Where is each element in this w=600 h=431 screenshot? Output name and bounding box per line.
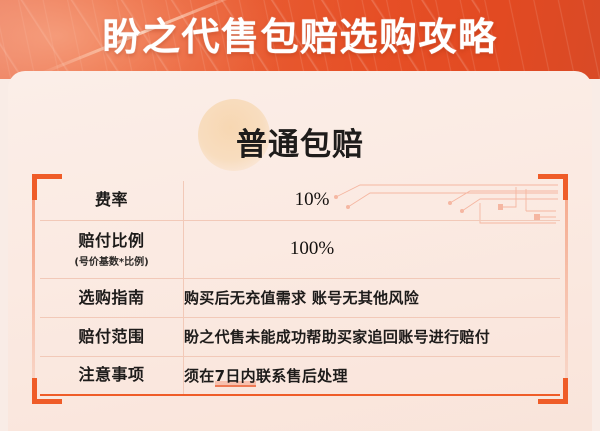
table-row-label-cell: 费率 bbox=[40, 181, 184, 220]
row-value: 100% bbox=[184, 238, 560, 260]
card-title: 普通包赔 bbox=[8, 119, 592, 164]
table-row-value-cell: 盼之代售未能成功帮助买家追回账号进行赔付 bbox=[184, 317, 561, 356]
row-label: 选购指南 bbox=[40, 288, 183, 308]
table-row: 注意事项 须在7日内联系售后处理 bbox=[40, 356, 560, 395]
table-row: 费率 10% bbox=[40, 181, 560, 220]
banner-header: 盼之代售包赔选购攻略 bbox=[0, 0, 600, 79]
row-value: 盼之代售未能成功帮助买家追回账号进行赔付 bbox=[184, 326, 560, 347]
row-label: 赔付范围 bbox=[40, 327, 183, 347]
content-card: 普通包赔 bbox=[8, 71, 592, 431]
table-row-value-cell: 购买后无充值需求 账号无其他风险 bbox=[184, 278, 561, 317]
spec-table: 费率 10% 赔付比例 (号价基数*比例) 100% bbox=[40, 181, 560, 396]
table-row-label-cell: 赔付比例 (号价基数*比例) bbox=[40, 220, 184, 278]
table-row-value-cell: 须在7日内联系售后处理 bbox=[184, 356, 561, 395]
promo-graphic-page: 盼之代售包赔选购攻略 普通包赔 bbox=[0, 0, 600, 431]
row-value: 购买后无充值需求 账号无其他风险 bbox=[184, 287, 560, 308]
table-row-label-cell: 注意事项 bbox=[40, 356, 184, 395]
row-sublabel: (号价基数*比例) bbox=[40, 253, 183, 268]
table-row: 赔付比例 (号价基数*比例) 100% bbox=[40, 220, 560, 278]
row-label: 费率 bbox=[40, 190, 183, 210]
table-row: 赔付范围 盼之代售未能成功帮助买家追回账号进行赔付 bbox=[40, 317, 560, 356]
table-left-edge-accent bbox=[32, 191, 35, 387]
table-row-value-cell: 10% bbox=[184, 181, 561, 220]
row-value: 10% bbox=[184, 189, 560, 211]
row-value-highlight: 7日内 bbox=[215, 367, 256, 387]
table-right-edge-accent bbox=[565, 191, 568, 387]
row-value-suffix: 联系售后处理 bbox=[256, 367, 348, 385]
banner-title: 盼之代售包赔选购攻略 bbox=[0, 11, 600, 63]
row-value: 须在7日内联系售后处理 bbox=[184, 365, 560, 386]
row-value-prefix: 须在 bbox=[184, 367, 215, 385]
table-row-label-cell: 赔付范围 bbox=[40, 317, 184, 356]
row-label: 赔付比例 bbox=[40, 231, 183, 251]
table-row: 选购指南 购买后无充值需求 账号无其他风险 bbox=[40, 278, 560, 317]
row-label: 注意事项 bbox=[40, 365, 183, 385]
table-row-value-cell: 100% bbox=[184, 220, 561, 278]
table-row-label-cell: 选购指南 bbox=[40, 278, 184, 317]
spec-table-container: 费率 10% 赔付比例 (号价基数*比例) 100% bbox=[40, 181, 560, 397]
